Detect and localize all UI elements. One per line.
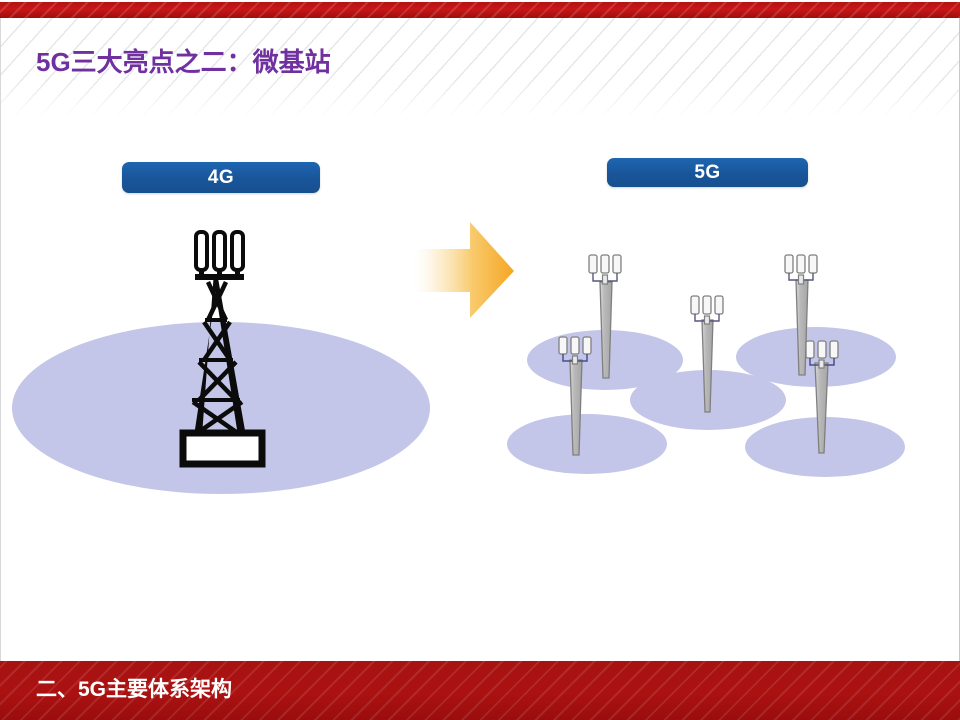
left-border-line	[0, 18, 1, 661]
footer-section-title: 二、5G主要体系架构	[36, 673, 232, 703]
micro-antenna-array	[691, 296, 723, 324]
page-title: 5G三大亮点之二：微基站	[36, 42, 331, 79]
macro-antenna-array	[195, 232, 244, 280]
micro-base-station	[691, 296, 723, 412]
coverage-ellipse	[527, 330, 683, 390]
micro-antenna-array	[785, 255, 817, 284]
label-5g: 5G	[607, 158, 808, 187]
micro-base-station	[589, 255, 621, 378]
macro-base-station-tower	[183, 232, 262, 464]
label-4g: 4G	[122, 162, 320, 193]
top-red-band	[0, 2, 960, 18]
macro-coverage-ellipse	[12, 322, 430, 494]
micro-coverage-ellipses	[507, 327, 905, 477]
micro-base-station	[559, 337, 591, 455]
coverage-ellipse	[736, 327, 896, 387]
slide-canvas: 5G三大亮点之二：微基站	[0, 0, 960, 720]
micro-antenna-array	[559, 337, 591, 364]
transition-arrow	[412, 222, 514, 318]
micro-base-station	[785, 255, 817, 375]
micro-antenna-array	[589, 255, 621, 284]
coverage-ellipse	[630, 370, 786, 430]
coverage-ellipse	[507, 414, 667, 474]
micro-antenna-array	[806, 341, 838, 368]
coverage-ellipse	[745, 417, 905, 477]
micro-base-station	[806, 341, 838, 453]
